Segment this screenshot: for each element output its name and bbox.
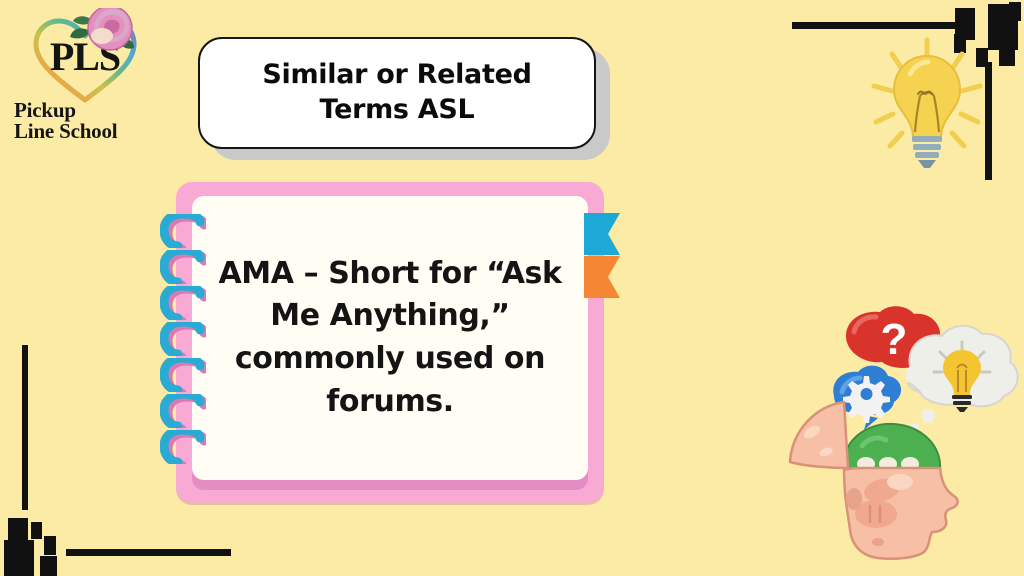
sparkle-icon — [999, 40, 1015, 66]
brand-name-line2: Line School — [14, 121, 154, 142]
svg-text:?: ? — [881, 315, 908, 364]
brain-shape — [844, 424, 941, 471]
corner-bar-top-right — [792, 22, 970, 29]
heart-rose-logo-icon: PLS — [26, 8, 144, 104]
corner-bar-bottom-left — [66, 549, 231, 556]
lightbulb-icon — [862, 34, 992, 170]
spiral-ring-icon — [160, 250, 206, 284]
bookmark-orange — [584, 256, 620, 298]
sparkle-icon — [40, 556, 57, 576]
spiral-ring-icon — [160, 322, 206, 356]
note-body-text: AMA – Short for “Ask Me Anything,” commo… — [192, 253, 588, 423]
spiral-ring-icon — [160, 286, 206, 320]
open-head-brain-icon: ? — [782, 306, 1020, 574]
spiral-ring-icon — [160, 358, 206, 392]
idea-cloud-bubble — [906, 326, 1018, 412]
spiral-ring-icon — [160, 394, 206, 428]
spiral-binding — [160, 214, 220, 464]
spiral-ring-icon — [160, 214, 206, 248]
brand-name-line1: Pickup — [14, 100, 154, 121]
brand-logo-wordmark: Pickup Line School — [14, 100, 154, 143]
page-title: Similar or Related Terms ASL — [246, 58, 547, 127]
sparkle-icon — [4, 540, 34, 576]
spiral-ring-icon — [160, 430, 206, 464]
face-profile — [844, 468, 958, 559]
sparkle-icon — [44, 536, 56, 555]
poster-canvas: PLS Pickup Line School — [0, 0, 1024, 576]
brand-logo: PLS Pickup Line School — [8, 8, 158, 156]
note-card: AMA – Short for “Ask Me Anything,” commo… — [176, 182, 604, 502]
sparkle-icon — [31, 522, 42, 539]
sparkle-icon — [1009, 2, 1021, 21]
title-card: Similar or Related Terms ASL — [198, 37, 596, 149]
corner-bar-left — [22, 345, 28, 510]
note-card-page: AMA – Short for “Ask Me Anything,” commo… — [192, 196, 588, 480]
skull-lid — [790, 402, 848, 468]
bookmark-blue — [584, 213, 620, 255]
